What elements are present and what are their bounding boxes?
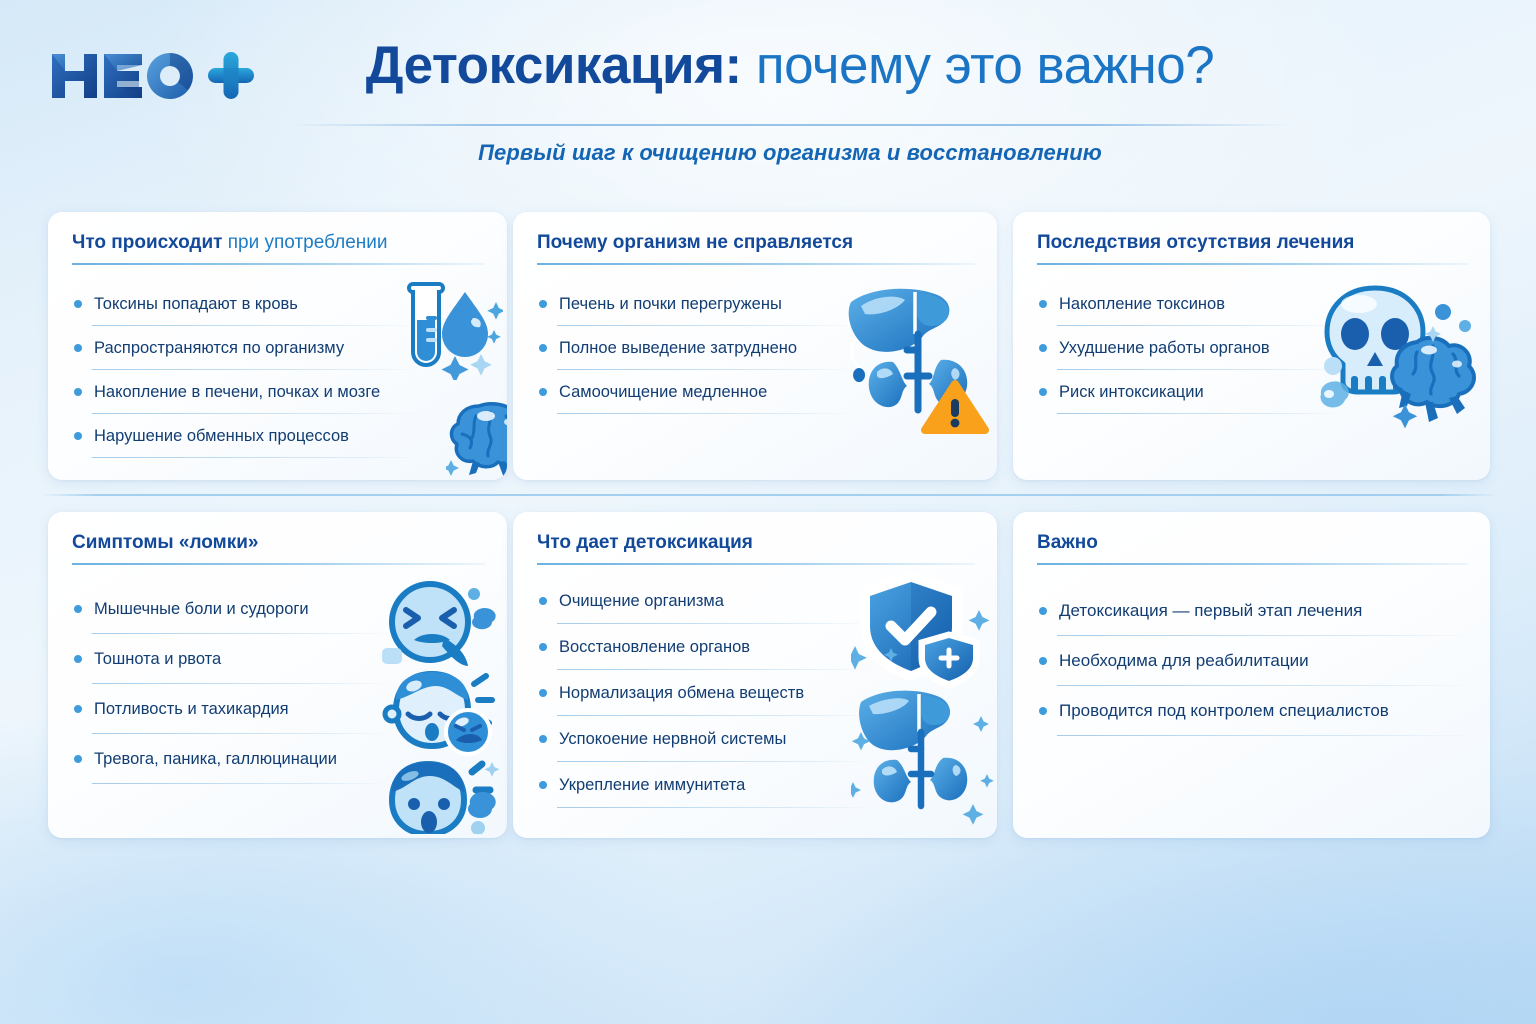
list-item-label: Нормализация обмена веществ [559,683,804,704]
bullet-icon [74,705,82,713]
card-list: Мышечные боли и судороги Тошнота и рвота… [72,584,485,784]
card-header-rule [1037,263,1468,265]
list-item: Детоксикация — первый этап лечения [1037,586,1468,636]
card-header: Симптомы «ломки» [72,532,485,565]
cards-grid: Что происходит при употреблении Токсины … [0,0,1536,1024]
card-header-rule [1037,563,1468,565]
card-list: Печень и почки перегружены Полное выведе… [537,282,975,414]
list-item-label: Необходима для реабилитации [1059,650,1309,671]
card-important: Важно Детоксикация — первый этап лечения… [1013,512,1490,838]
list-item-label: Проводится под контролем специалистов [1059,700,1389,721]
bullet-icon [539,388,547,396]
list-item-label: Тревога, паника, галлюцинации [94,749,337,770]
card-header: Последствия отсутствия лечения [1037,232,1468,265]
card-header-rule [72,263,485,265]
card-header: Почему организм не справляется [537,232,975,265]
list-item-label: Самоочищение медленное [559,382,767,403]
item-underline [557,413,857,414]
card-what-happens: Что происходит при употреблении Токсины … [48,212,507,480]
card-header-rule [72,563,485,565]
sparkle-icon [446,460,459,476]
list-item: Распространяются по организму [72,326,485,370]
bullet-icon [1039,657,1047,665]
item-underline [1057,413,1347,414]
list-item-label: Успокоение нервной системы [559,729,786,750]
bullet-icon [74,388,82,396]
list-item-label: Распространяются по организму [94,338,344,359]
card-title-strong: Что происходит [72,232,222,253]
bullet-icon [1039,607,1047,615]
list-item-label: Печень и почки перегружены [559,294,782,315]
list-item: Успокоение нервной системы [537,716,975,762]
list-item-label: Полное выведение затруднено [559,338,797,359]
list-item: Восстановление органов [537,624,975,670]
bullet-icon [539,597,547,605]
list-item: Полное выведение затруднено [537,326,975,370]
list-item: Мышечные боли и судороги [72,584,485,634]
bullet-icon [539,643,547,651]
list-item-label: Накопление в печени, почках и мозге [94,382,380,403]
list-item: Очищение организма [537,578,975,624]
list-item-label: Мышечные боли и судороги [94,599,309,620]
list-item: Самоочищение медленное [537,370,975,414]
list-item-label: Ухудшение работы органов [1059,338,1270,359]
card-why-body-fails: Почему организм не справляется Печень и … [513,212,997,480]
list-item: Нарушение обменных процессов [72,414,485,458]
list-item-label: Детоксикация — первый этап лечения [1059,600,1362,621]
card-header-rule [537,563,975,565]
item-underline [92,457,422,458]
bullet-icon [1039,300,1047,308]
card-list: Накопление токсинов Ухудшение работы орг… [1037,282,1468,414]
list-item: Токсины попадают в кровь [72,282,485,326]
card-header: Что дает детоксикация [537,532,975,565]
card-header: Что происходит при употреблении [72,232,485,265]
card-list: Токсины попадают в кровь Распространяютс… [72,282,485,458]
bullet-icon [539,689,547,697]
card-header: Важно [1037,532,1468,565]
sparkle-icon [485,762,500,777]
card-detox-benefits: Что дает детоксикация Очищение организма… [513,512,997,838]
list-item-label: Тошнота и рвота [94,649,221,670]
list-item: Печень и почки перегружены [537,282,975,326]
bullet-icon [1039,388,1047,396]
item-underline [557,807,875,808]
bullet-icon [1039,344,1047,352]
list-item-label: Восстановление органов [559,637,750,658]
list-item: Нормализация обмена веществ [537,670,975,716]
bullet-icon [1039,707,1047,715]
bullet-icon [74,344,82,352]
bullet-icon [74,300,82,308]
bullet-icon [74,605,82,613]
card-title-strong: Почему организм не справляется [537,232,853,253]
item-underline [92,783,392,784]
card-header-rule [537,263,975,265]
list-item-label: Потливость и тахикардия [94,699,289,720]
bullet-icon [74,655,82,663]
list-item: Потливость и тахикардия [72,684,485,734]
list-item: Ухудшение работы органов [1037,326,1468,370]
card-title-strong: Симптомы «ломки» [72,532,258,553]
list-item: Накопление токсинов [1037,282,1468,326]
card-title-light: при употреблении [228,232,388,253]
list-item-label: Токсины попадают в кровь [94,294,298,315]
sparkle-icon [487,302,503,344]
item-underline [1057,735,1477,736]
list-item: Риск интоксикации [1037,370,1468,414]
card-title-strong: Важно [1037,532,1098,553]
list-item: Тошнота и рвота [72,634,485,684]
list-item-label: Риск интоксикации [1059,382,1204,403]
list-item-label: Нарушение обменных процессов [94,426,349,447]
card-title-strong: Что дает детоксикация [537,532,753,553]
bullet-icon [539,735,547,743]
card-list: Очищение организма Восстановление органо… [537,578,975,808]
card-withdrawal-symptoms: Симптомы «ломки» Мышечные боли и судорог… [48,512,507,838]
bullet-icon [539,300,547,308]
bullet-icon [539,344,547,352]
card-list: Детоксикация — первый этап лечения Необх… [1037,586,1468,736]
list-item: Накопление в печени, почках и мозге [72,370,485,414]
list-item: Проводится под контролем специалистов [1037,686,1468,736]
card-consequences: Последствия отсутствия лечения Накоплени… [1013,212,1490,480]
list-item: Тревога, паника, галлюцинации [72,734,485,784]
list-item: Необходима для реабилитации [1037,636,1468,686]
bullet-icon [74,432,82,440]
list-item: Укрепление иммунитета [537,762,975,808]
list-item-label: Укрепление иммунитета [559,775,745,796]
list-item-label: Очищение организма [559,591,724,612]
bullet-icon [539,781,547,789]
bullet-icon [74,755,82,763]
list-item-label: Накопление токсинов [1059,294,1225,315]
card-title-strong: Последствия отсутствия лечения [1037,232,1354,253]
